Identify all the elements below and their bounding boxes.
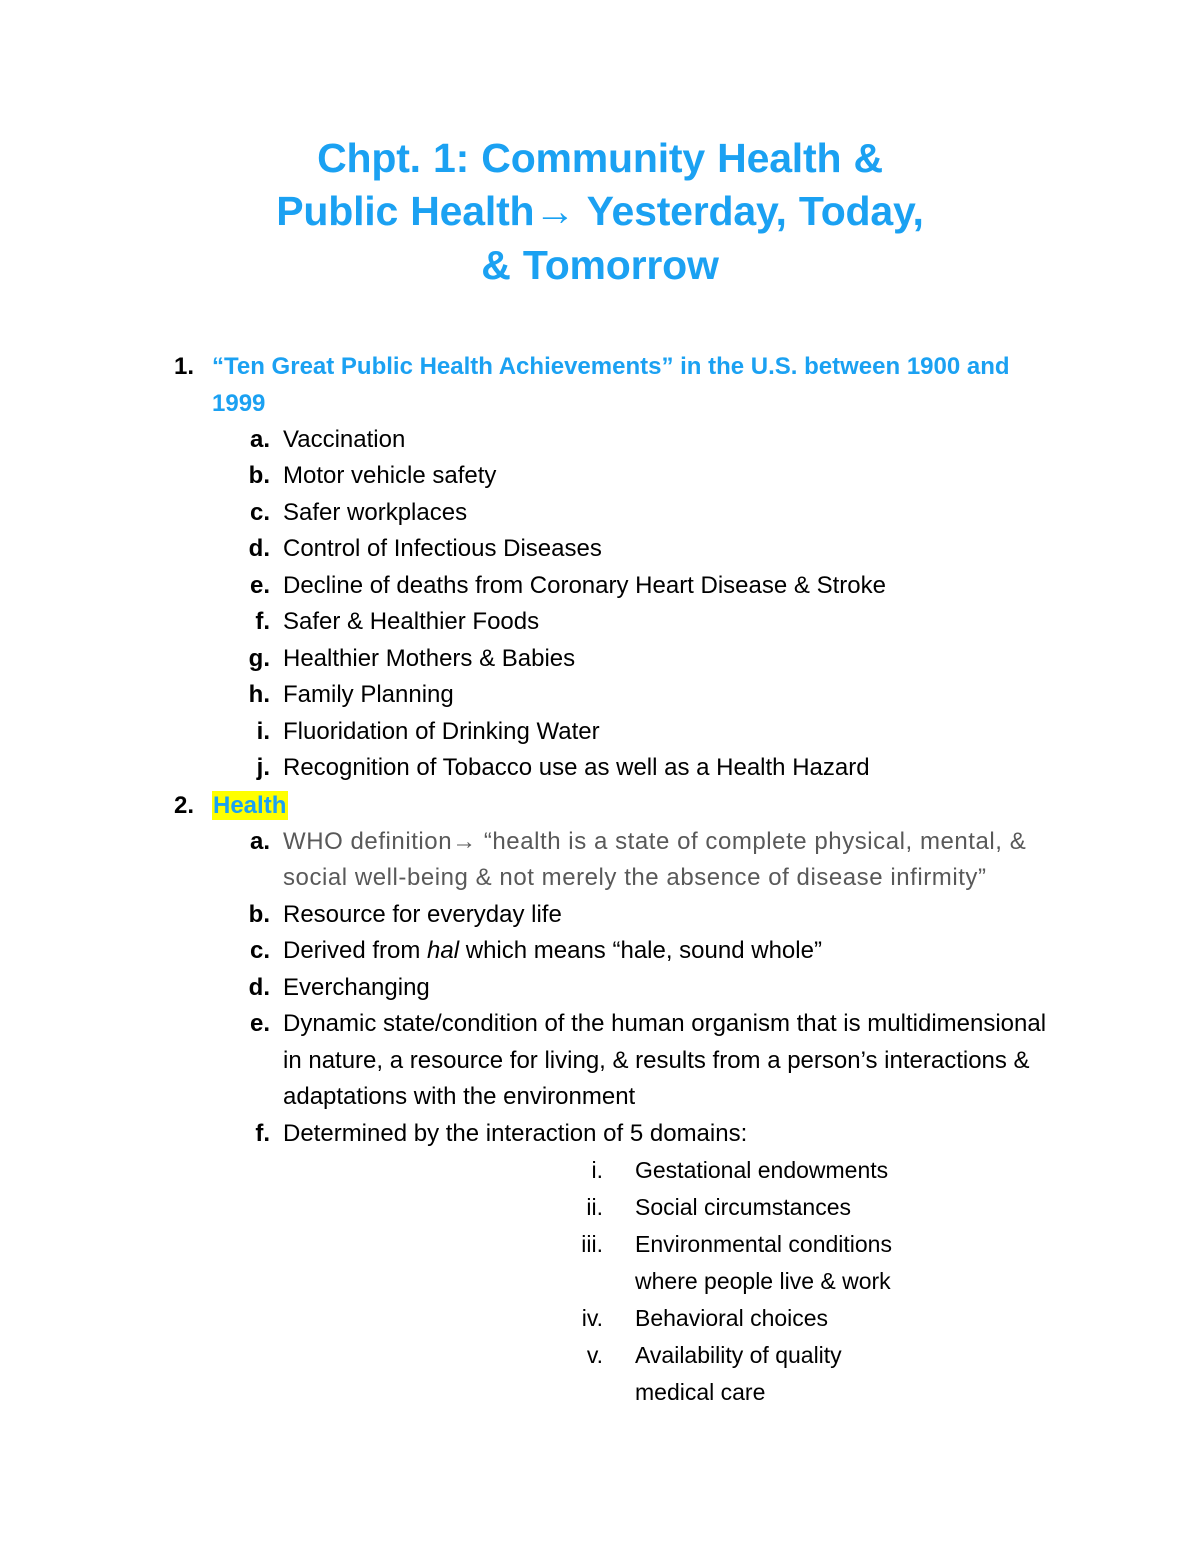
title-line-3: & Tomorrow <box>481 242 718 288</box>
list-item-label: Family Planning <box>283 677 1050 714</box>
list-item-marker: b. <box>238 897 270 934</box>
list-item: a. WHO definition→ “health is a state of… <box>0 824 1200 897</box>
list-item-label: Resource for everyday life <box>283 897 1050 934</box>
text-after-italic: which means “hale, sound whole” <box>459 937 822 964</box>
list-item: f. Safer & Healthier Foods <box>0 604 1200 641</box>
who-definition-text: WHO definition→ “health is a state of co… <box>283 824 1050 897</box>
list-item-marker: f. <box>238 604 270 641</box>
list-item-label: Safer & Healthier Foods <box>283 604 1050 641</box>
list-item: c. Derived from hal which means “hale, s… <box>0 933 1200 970</box>
outline-list: 1. “Ten Great Public Health Achievements… <box>0 348 1200 1412</box>
list-item-marker: e. <box>238 568 270 605</box>
list-item-marker: iii. <box>553 1226 603 1263</box>
list-item-label: Healthier Mothers & Babies <box>283 641 1050 678</box>
list-item: c. Safer workplaces <box>0 495 1200 532</box>
italic-term: hal <box>427 937 459 964</box>
list-item-label: Control of Infectious Diseases <box>283 531 1050 568</box>
list-item: g. Healthier Mothers & Babies <box>0 641 1200 678</box>
text-before-italic: Derived from <box>283 937 427 964</box>
list-item-marker: h. <box>238 677 270 714</box>
list-item: d. Control of Infectious Diseases <box>0 531 1200 568</box>
list-item-label: Fluoridation of Drinking Water <box>283 714 1050 751</box>
document-page: Chpt. 1: Community Health & Public Healt… <box>0 0 1200 1553</box>
list-item-marker: i. <box>553 1152 603 1189</box>
list-item: v. Availability of quality medical care <box>283 1337 1050 1411</box>
list-item-marker: c. <box>238 933 270 970</box>
list-item-marker: b. <box>238 458 270 495</box>
list-item-marker: ii. <box>553 1189 603 1226</box>
list-item: iv. Behavioral choices <box>283 1300 1050 1337</box>
list-item-label-etymology: Derived from hal which means “hale, soun… <box>283 933 1050 970</box>
list-item-marker: c. <box>238 495 270 532</box>
list-item-label: Availability of quality medical care <box>635 1337 910 1411</box>
list-item: ii. Social circumstances <box>283 1189 1050 1226</box>
title-line-1: Chpt. 1: Community Health & <box>317 135 883 181</box>
list-item-marker: d. <box>238 970 270 1007</box>
list-item-label: Recognition of Tobacco use as well as a … <box>283 750 1050 787</box>
list-item-marker: i. <box>238 714 270 751</box>
list-item-label: Dynamic state/condition of the human org… <box>283 1006 1050 1116</box>
list-item-marker: g. <box>238 641 270 678</box>
outline-item-1-row: 1. “Ten Great Public Health Achievements… <box>0 348 1200 422</box>
outline-item-2-text-wrap: Health <box>212 787 1020 824</box>
list-item-marker: d. <box>238 531 270 568</box>
list-item-label: Motor vehicle safety <box>283 458 1050 495</box>
list-item: i. Fluoridation of Drinking Water <box>0 714 1200 751</box>
title-body-spacer <box>0 292 1200 348</box>
list-item-label: Safer workplaces <box>283 495 1050 532</box>
list-item-label: Everchanging <box>283 970 1050 1007</box>
list-item-label: Decline of deaths from Coronary Heart Di… <box>283 568 1050 605</box>
list-item: h. Family Planning <box>0 677 1200 714</box>
outline-item-2: 2. Health a. WHO definition→ “health is … <box>0 787 1200 1412</box>
list-item: a. Vaccination <box>0 422 1200 459</box>
list-item: j. Recognition of Tobacco use as well as… <box>0 750 1200 787</box>
list-item: iii. Environmental conditions where peop… <box>283 1226 1050 1300</box>
list-item: d. Everchanging <box>0 970 1200 1007</box>
list-item-label: Environmental conditions where people li… <box>635 1226 910 1300</box>
list-item-label: Determined by the interaction of 5 domai… <box>283 1116 1050 1153</box>
highlighted-term: Health <box>212 791 288 820</box>
list-item-marker: a. <box>238 824 270 861</box>
outline-item-2-sublist: a. WHO definition→ “health is a state of… <box>0 824 1200 1412</box>
list-item-label: Gestational endowments <box>635 1152 910 1189</box>
outline-item-1-sublist: a. Vaccination b. Motor vehicle safety c… <box>0 422 1200 787</box>
list-item-label: Vaccination <box>283 422 1050 459</box>
outline-item-1-text: “Ten Great Public Health Achievements” i… <box>212 348 1020 422</box>
list-item: b. Resource for everyday life <box>0 897 1200 934</box>
list-item: f. Determined by the interaction of 5 do… <box>0 1116 1200 1412</box>
outline-item-1-marker: 1. <box>160 348 194 385</box>
list-item: i. Gestational endowments <box>283 1152 1050 1189</box>
outline-item-1: 1. “Ten Great Public Health Achievements… <box>0 348 1200 787</box>
list-item: e. Dynamic state/condition of the human … <box>0 1006 1200 1116</box>
list-item-label: Social circumstances <box>635 1189 910 1226</box>
list-item-marker: v. <box>553 1337 603 1374</box>
list-item-marker: a. <box>238 422 270 459</box>
list-item: b. Motor vehicle safety <box>0 458 1200 495</box>
list-item-label: Behavioral choices <box>635 1300 910 1337</box>
list-item-marker: f. <box>238 1116 270 1153</box>
page-title: Chpt. 1: Community Health & Public Healt… <box>0 0 1200 292</box>
list-item-marker: e. <box>238 1006 270 1043</box>
list-item: e. Decline of deaths from Coronary Heart… <box>0 568 1200 605</box>
list-item-marker: iv. <box>553 1300 603 1337</box>
outline-item-2-row: 2. Health <box>0 787 1200 824</box>
list-item-marker: j. <box>238 750 270 787</box>
domains-sublist: i. Gestational endowments ii. Social cir… <box>283 1152 1050 1411</box>
title-line-2: Public Health→ Yesterday, Today, <box>276 188 924 234</box>
outline-item-2-marker: 2. <box>160 787 194 824</box>
